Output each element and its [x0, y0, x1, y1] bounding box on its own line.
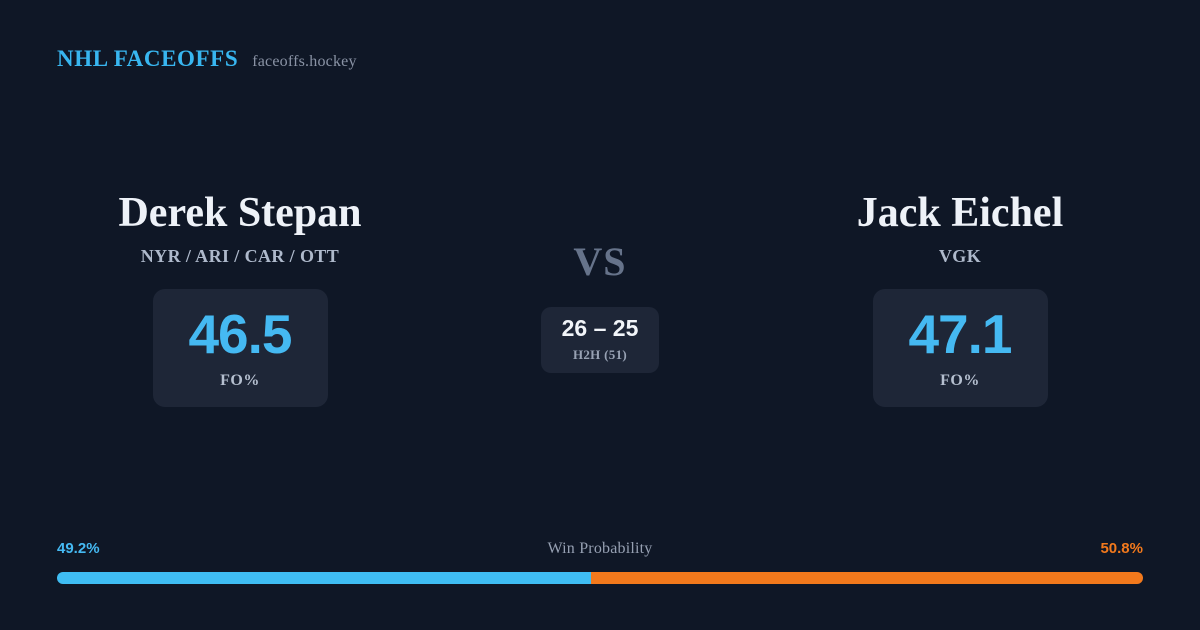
- player-left-faceoff-pct: 46.5: [188, 307, 291, 362]
- player-right-faceoff-pct: 47.1: [908, 307, 1011, 362]
- win-probability-bar-left-fill: [57, 572, 591, 584]
- win-probability-left-pct: 49.2%: [57, 540, 100, 557]
- win-probability-bar: [57, 572, 1143, 584]
- win-probability-bar-right-fill: [591, 572, 1143, 584]
- head-to-head-card: 26 – 25 H2H (51): [541, 307, 659, 373]
- player-right-stat-card: 47.1 FO%: [873, 289, 1048, 407]
- win-probability-section: 49.2% Win Probability 50.8%: [57, 540, 1143, 584]
- head-to-head-score: 26 – 25: [562, 317, 639, 340]
- head-to-head-label: H2H (51): [573, 347, 627, 363]
- player-right-stat-label: FO%: [940, 372, 980, 390]
- player-left-teams: NYR / ARI / CAR / OTT: [141, 246, 339, 267]
- win-probability-labels: 49.2% Win Probability 50.8%: [57, 540, 1143, 562]
- player-left-name: Derek Stepan: [118, 190, 361, 237]
- player-left: Derek Stepan NYR / ARI / CAR / OTT 46.5 …: [0, 190, 480, 407]
- player-right-name: Jack Eichel: [857, 190, 1064, 237]
- vs-label: VS: [573, 242, 626, 282]
- win-probability-right-pct: 50.8%: [1100, 540, 1143, 557]
- player-left-stat-label: FO%: [220, 372, 260, 390]
- matchup-section: Derek Stepan NYR / ARI / CAR / OTT 46.5 …: [0, 190, 1200, 407]
- site-header: NHL FACEOFFS faceoffs.hockey: [57, 46, 357, 72]
- brand-domain: faceoffs.hockey: [252, 53, 356, 71]
- player-right: Jack Eichel VGK 47.1 FO%: [720, 190, 1200, 407]
- brand-title: NHL FACEOFFS: [57, 46, 238, 72]
- win-probability-title: Win Probability: [547, 540, 652, 558]
- player-left-stat-card: 46.5 FO%: [153, 289, 328, 407]
- matchup-center: VS 26 – 25 H2H (51): [480, 190, 720, 373]
- player-right-teams: VGK: [939, 246, 981, 267]
